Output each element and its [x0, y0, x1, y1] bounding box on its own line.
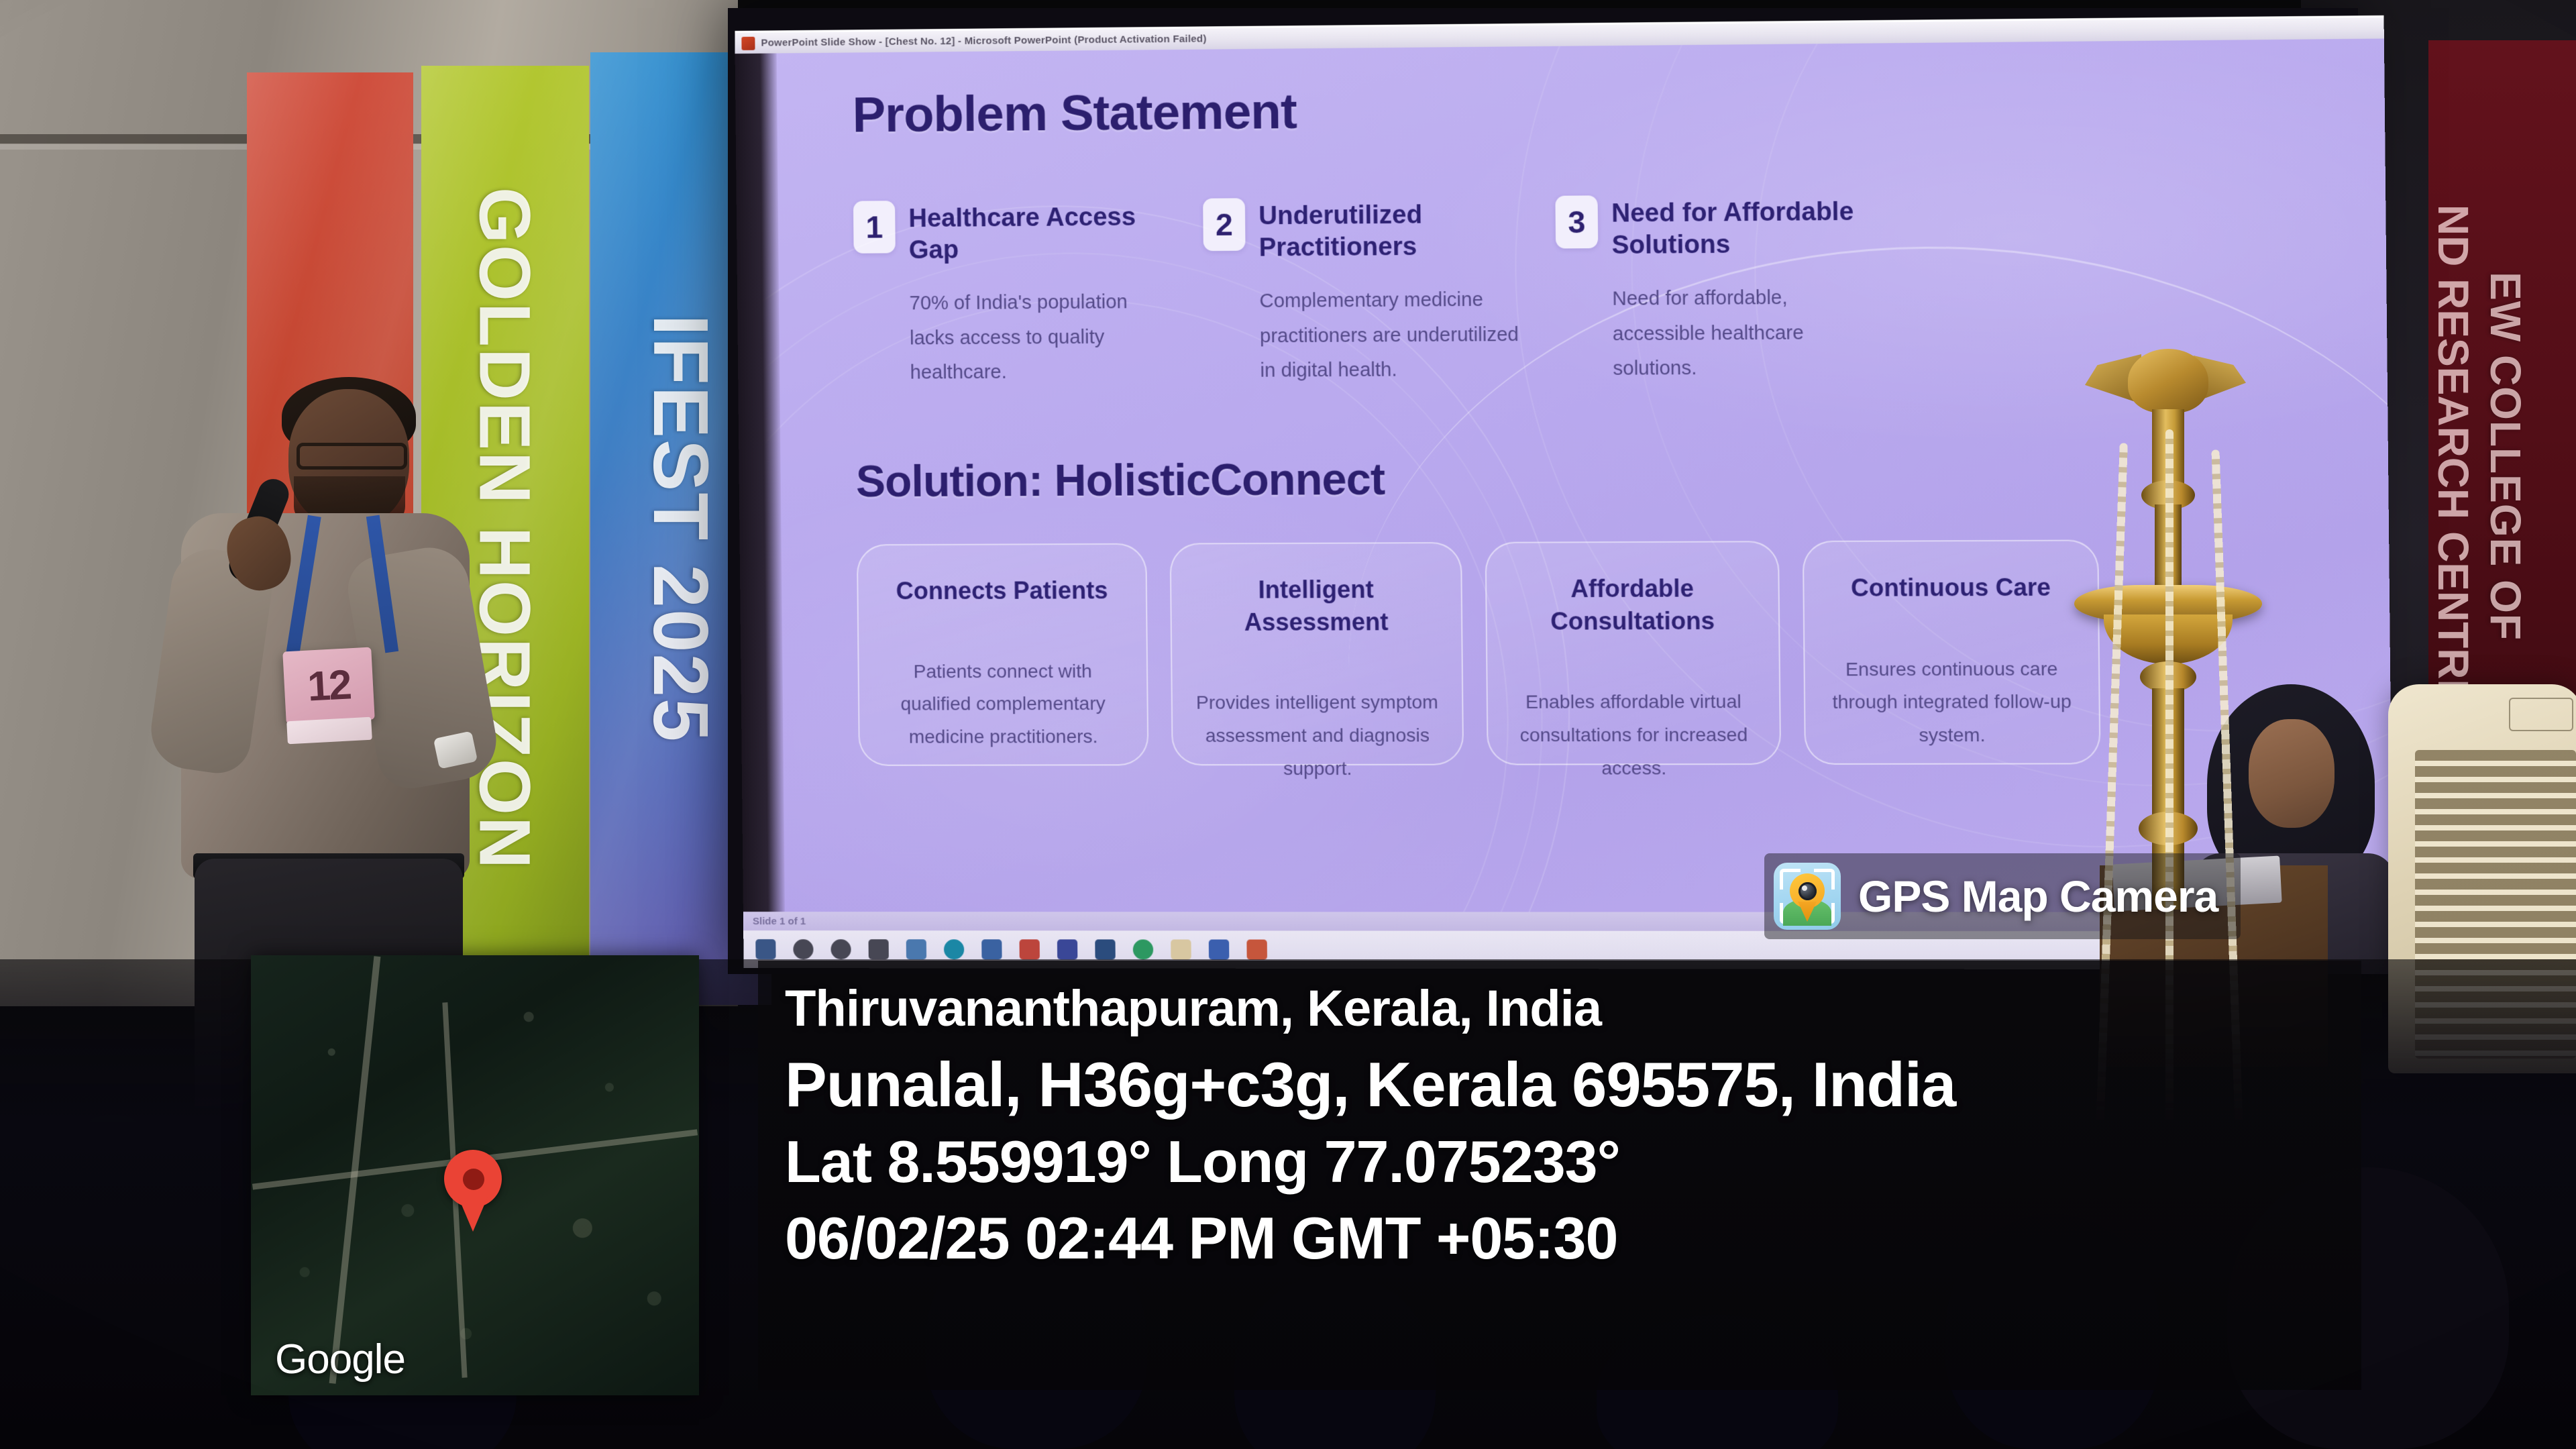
problem-title: Need for Affordable Solutions	[1611, 196, 1878, 262]
problem-number: 3	[1568, 204, 1586, 241]
problem-number-badge: 3	[1555, 195, 1598, 248]
problem-number: 2	[1216, 207, 1233, 243]
air-cooler-logo	[2509, 698, 2573, 731]
outlook-icon[interactable]	[1095, 939, 1116, 959]
map-thumbnail[interactable]: Google	[251, 955, 699, 1395]
banner-maroon-text-line2: ND RESEARCH CENTRE	[2428, 205, 2478, 708]
solution-card: Affordable Consultations Enables afforda…	[1485, 541, 1782, 765]
onenote-icon[interactable]	[1057, 939, 1078, 959]
gps-text-block: Thiruvananthapuram, Kerala, India Punala…	[785, 979, 2348, 1273]
chart-app-icon[interactable]	[1209, 939, 1230, 959]
start-icon[interactable]	[755, 939, 775, 959]
solution-card-body: Enables affordable virtual consultations…	[1511, 686, 1756, 785]
problem-text: Healthcare Access Gap 70% of India's pop…	[908, 199, 1172, 391]
problem-item: 2 Underutilized Practitioners Complement…	[1203, 196, 1524, 389]
badge-lower-strip	[286, 717, 372, 745]
solution-card: Continuous Care Ensures continuous care …	[1803, 539, 2101, 765]
problem-body: Need for affordable, accessible healthca…	[1612, 280, 1879, 387]
gps-map-camera-icon	[1774, 863, 1841, 930]
cortana-icon[interactable]	[830, 939, 851, 959]
chest-number-badge: 12	[282, 647, 374, 724]
banner-blue-text: IFEST 2025	[636, 315, 726, 743]
gps-info-panel: Thiruvananthapuram, Kerala, India Punala…	[758, 961, 2361, 1390]
problem-item: 1 Healthcare Access Gap 70% of India's p…	[853, 199, 1173, 391]
powerpoint-taskbar-icon[interactable]	[1246, 940, 1267, 960]
slide-counter: Slide 1 of 1	[753, 916, 806, 927]
presenter-glasses	[297, 443, 407, 470]
map-pin-center-dot	[463, 1169, 484, 1190]
problem-number-badge: 1	[853, 201, 896, 254]
solution-card-title: Affordable Consultations	[1510, 572, 1756, 637]
problem-title: Healthcare Access Gap	[908, 201, 1171, 266]
solution-card-title: Connects Patients	[881, 574, 1122, 607]
gps-timestamp-line: 06/02/25 02:44 PM GMT +05:30	[785, 1204, 2348, 1273]
solution-card-body: Patients connect with qualified compleme…	[882, 655, 1124, 753]
adobe-icon[interactable]	[1019, 939, 1039, 959]
problem-number: 1	[865, 209, 883, 245]
solution-card: Connects Patients Patients connect with …	[857, 543, 1149, 766]
gps-coordinates-line: Lat 8.559919° Long 77.075233°	[785, 1128, 2348, 1196]
task-view-icon[interactable]	[869, 939, 889, 959]
problem-title: Underutilized Practitioners	[1258, 199, 1523, 264]
gps-map-camera-badge: GPS Map Camera	[1764, 853, 2241, 939]
solution-card-title: Continuous Care	[1827, 571, 2074, 604]
problem-number-badge: 2	[1203, 198, 1245, 251]
solution-card-body: Provides intelligent symptom assessment …	[1195, 686, 1440, 786]
edge-icon[interactable]	[944, 939, 964, 959]
problem-item: 3 Need for Affordable Solutions Need for…	[1555, 193, 1879, 387]
lamp-peacock-finial	[2128, 349, 2208, 413]
problem-text: Need for Affordable Solutions Need for a…	[1611, 193, 1879, 387]
solution-card-title: Intelligent Assessment	[1194, 574, 1438, 639]
problem-body: 70% of India's population lacks access t…	[909, 285, 1172, 391]
solution-card-body: Ensures continuous care through integrat…	[1828, 653, 2076, 753]
powerpoint-title-text: PowerPoint Slide Show - [Chest No. 12] -…	[761, 33, 1206, 48]
problem-body: Complementary medicine practitioners are…	[1259, 283, 1524, 389]
google-watermark: Google	[275, 1336, 405, 1383]
camera-lens-icon	[1799, 882, 1817, 900]
file-explorer-icon[interactable]	[906, 939, 926, 959]
gps-brand-label: GPS Map Camera	[1858, 871, 2218, 922]
screenshot-root: GOLDEN HORIZON IFEST 2025 EW COLLEGE OF …	[0, 0, 2576, 1449]
problem-text: Underutilized Practitioners Complementar…	[1258, 196, 1524, 389]
banner-maroon-text-line1: EW COLLEGE OF	[2481, 272, 2530, 641]
powerpoint-icon	[741, 36, 755, 50]
notepad-icon[interactable]	[1171, 939, 1191, 959]
solution-card: Intelligent Assessment Provides intellig…	[1170, 542, 1464, 765]
excel-icon[interactable]	[1133, 939, 1154, 959]
slide-heading-problem: Problem Statement	[852, 73, 2336, 144]
search-icon[interactable]	[793, 939, 813, 959]
gps-address-line: Punalal, H36g+c3g, Kerala 695575, India	[785, 1049, 2348, 1121]
word-icon[interactable]	[981, 939, 1002, 959]
gps-city-line: Thiruvananthapuram, Kerala, India	[785, 979, 2348, 1038]
chest-number-text: 12	[307, 661, 352, 710]
